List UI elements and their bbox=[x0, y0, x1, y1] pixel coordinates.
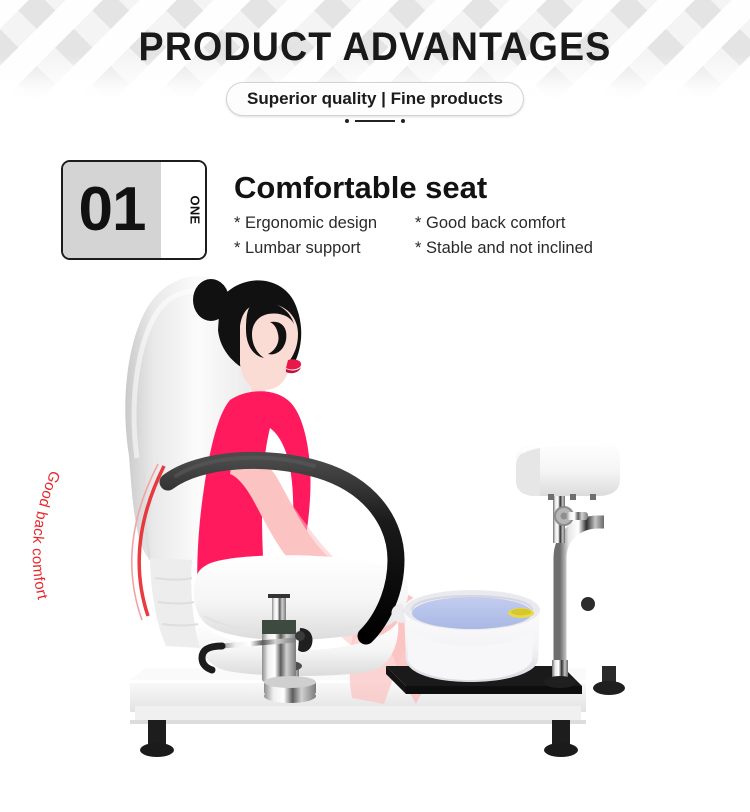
divider-line bbox=[355, 120, 395, 122]
bullet-item: * Good back comfort bbox=[415, 212, 593, 235]
white-leg-rest bbox=[516, 440, 620, 500]
callout-label: Good back comfort bbox=[29, 468, 64, 601]
bullet-item: * Ergonomic design bbox=[234, 212, 415, 235]
callout-label-text: Good back comfort bbox=[29, 468, 64, 601]
bullet-item: * Stable and not inclined bbox=[415, 237, 593, 260]
divider-ornament bbox=[345, 119, 405, 123]
product-illustration: Good back comfort bbox=[0, 268, 750, 812]
divider-dot-right bbox=[401, 119, 405, 123]
badge-number: 01 bbox=[63, 162, 161, 258]
pedicure-basin bbox=[391, 590, 540, 682]
feature-heading: Comfortable seat bbox=[234, 169, 487, 207]
svg-text:Good back comfort: Good back comfort bbox=[29, 468, 64, 601]
badge-label-text: ADVANTAGE ONE bbox=[188, 168, 207, 251]
subtitle-pill: Superior quality | Fine products bbox=[226, 82, 524, 116]
badge-label: ADVANTAGE ONE bbox=[161, 162, 207, 258]
divider-dot-left bbox=[345, 119, 349, 123]
bullet-item: * Lumbar support bbox=[234, 237, 415, 260]
advantage-badge: 01 ADVANTAGE ONE bbox=[61, 160, 207, 260]
product-advantages-page: PRODUCT ADVANTAGES Superior quality | Fi… bbox=[0, 0, 750, 812]
feature-bullet-list: * Ergonomic design * Good back comfort *… bbox=[234, 212, 593, 260]
badge-label-line2: ONE bbox=[188, 195, 203, 224]
page-title: PRODUCT ADVANTAGES bbox=[23, 24, 728, 70]
chrome-footrest-pole bbox=[544, 473, 604, 688]
spa-chair-graphic: Good back comfort bbox=[0, 268, 750, 812]
badge-label-line1: ADVANTAGE bbox=[203, 168, 207, 251]
